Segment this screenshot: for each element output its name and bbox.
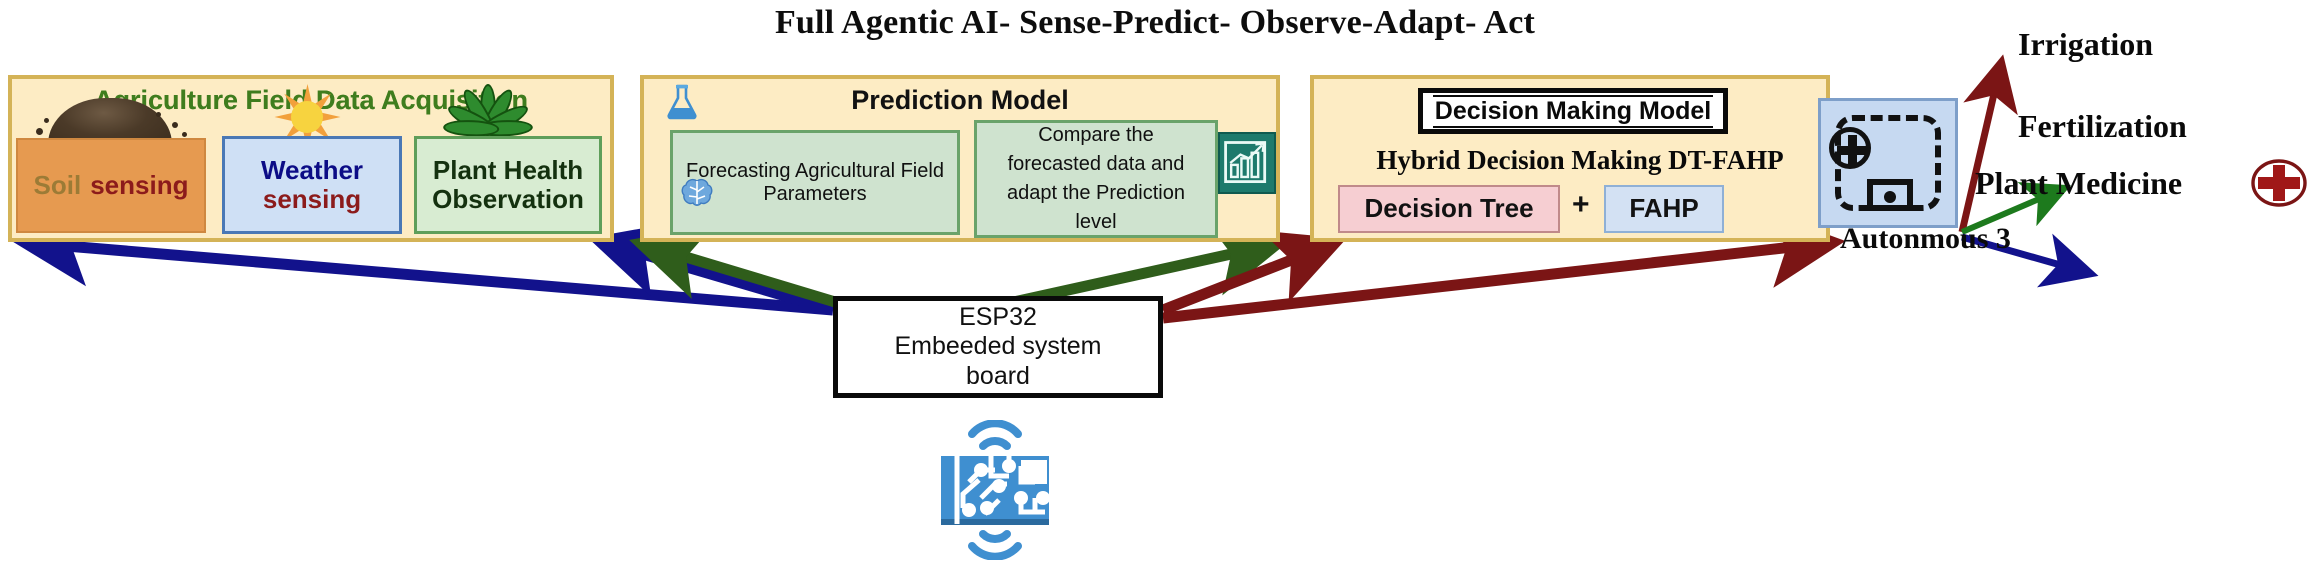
box-plant-health-observation[interactable]: Plant Health Observation xyxy=(414,136,602,234)
box-fahp[interactable]: FAHP xyxy=(1604,185,1724,233)
robot-target-icon xyxy=(1829,127,1871,169)
flask-icon xyxy=(665,84,699,120)
prediction-panel-title: Prediction Model xyxy=(644,85,1276,116)
plant-line-2: Observation xyxy=(432,185,584,214)
plant-leaf-icon xyxy=(450,78,526,144)
esp32-line-3: board xyxy=(966,362,1030,392)
forecast-line-1: Forecasting Agricultural Field xyxy=(686,160,944,182)
diagram-canvas: Full Agentic AI- Sense-Predict- Observe-… xyxy=(0,0,2310,572)
forecast-line-2: Parameters xyxy=(763,183,866,205)
box-compare-and-adapt[interactable]: Compare the forecasted data and adapt th… xyxy=(974,120,1218,238)
red-cross-icon xyxy=(2250,158,2308,208)
autonomous-robot-icon[interactable] xyxy=(1818,98,1958,228)
box-weather-sensing[interactable]: Weather sensing xyxy=(222,136,402,234)
decision-making-model-label: Decision Making Model xyxy=(1433,95,1713,128)
action-label-fertilization: Fertilization xyxy=(2018,108,2187,145)
esp32-controller-box[interactable]: ESP32 Embeeded system board xyxy=(833,296,1163,398)
box-soil-sensing[interactable]: Soil sensing xyxy=(16,138,206,233)
soil-word-2: sensing xyxy=(90,171,188,200)
compare-line-1: Compare the xyxy=(1038,121,1154,150)
soil-word-1: Soil xyxy=(34,171,82,200)
compare-line-4: level xyxy=(1075,208,1116,237)
brain-icon xyxy=(680,178,714,208)
esp32-line-1: ESP32 xyxy=(959,303,1037,333)
autonomous-label: Autonmous 3 xyxy=(1840,222,2011,256)
page-title: Full Agentic AI- Sense-Predict- Observe-… xyxy=(0,4,2310,42)
plus-operator: + xyxy=(1572,188,1590,222)
box-decision-tree[interactable]: Decision Tree xyxy=(1338,185,1560,233)
decision-making-model-title: Decision Making Model xyxy=(1418,88,1728,134)
robot-chip-icon xyxy=(1867,179,1913,211)
plant-line-1: Plant Health xyxy=(433,156,583,185)
weather-line-2: sensing xyxy=(263,185,361,214)
circuit-board-wifi-icon xyxy=(925,420,1065,560)
bar-chart-icon xyxy=(1218,132,1276,194)
esp32-line-2: Embeeded system xyxy=(894,332,1101,362)
action-label-irrigation: Irrigation xyxy=(2018,26,2153,63)
weather-line-1: Weather xyxy=(261,156,363,185)
action-label-plant-medicine: Plant Medicine xyxy=(1975,165,2182,202)
compare-line-2: forecasted data and xyxy=(1008,150,1185,179)
compare-line-3: adapt the Prediction xyxy=(1007,179,1185,208)
hybrid-decision-subtitle: Hybrid Decision Making DT-FAHP xyxy=(1330,145,1830,176)
